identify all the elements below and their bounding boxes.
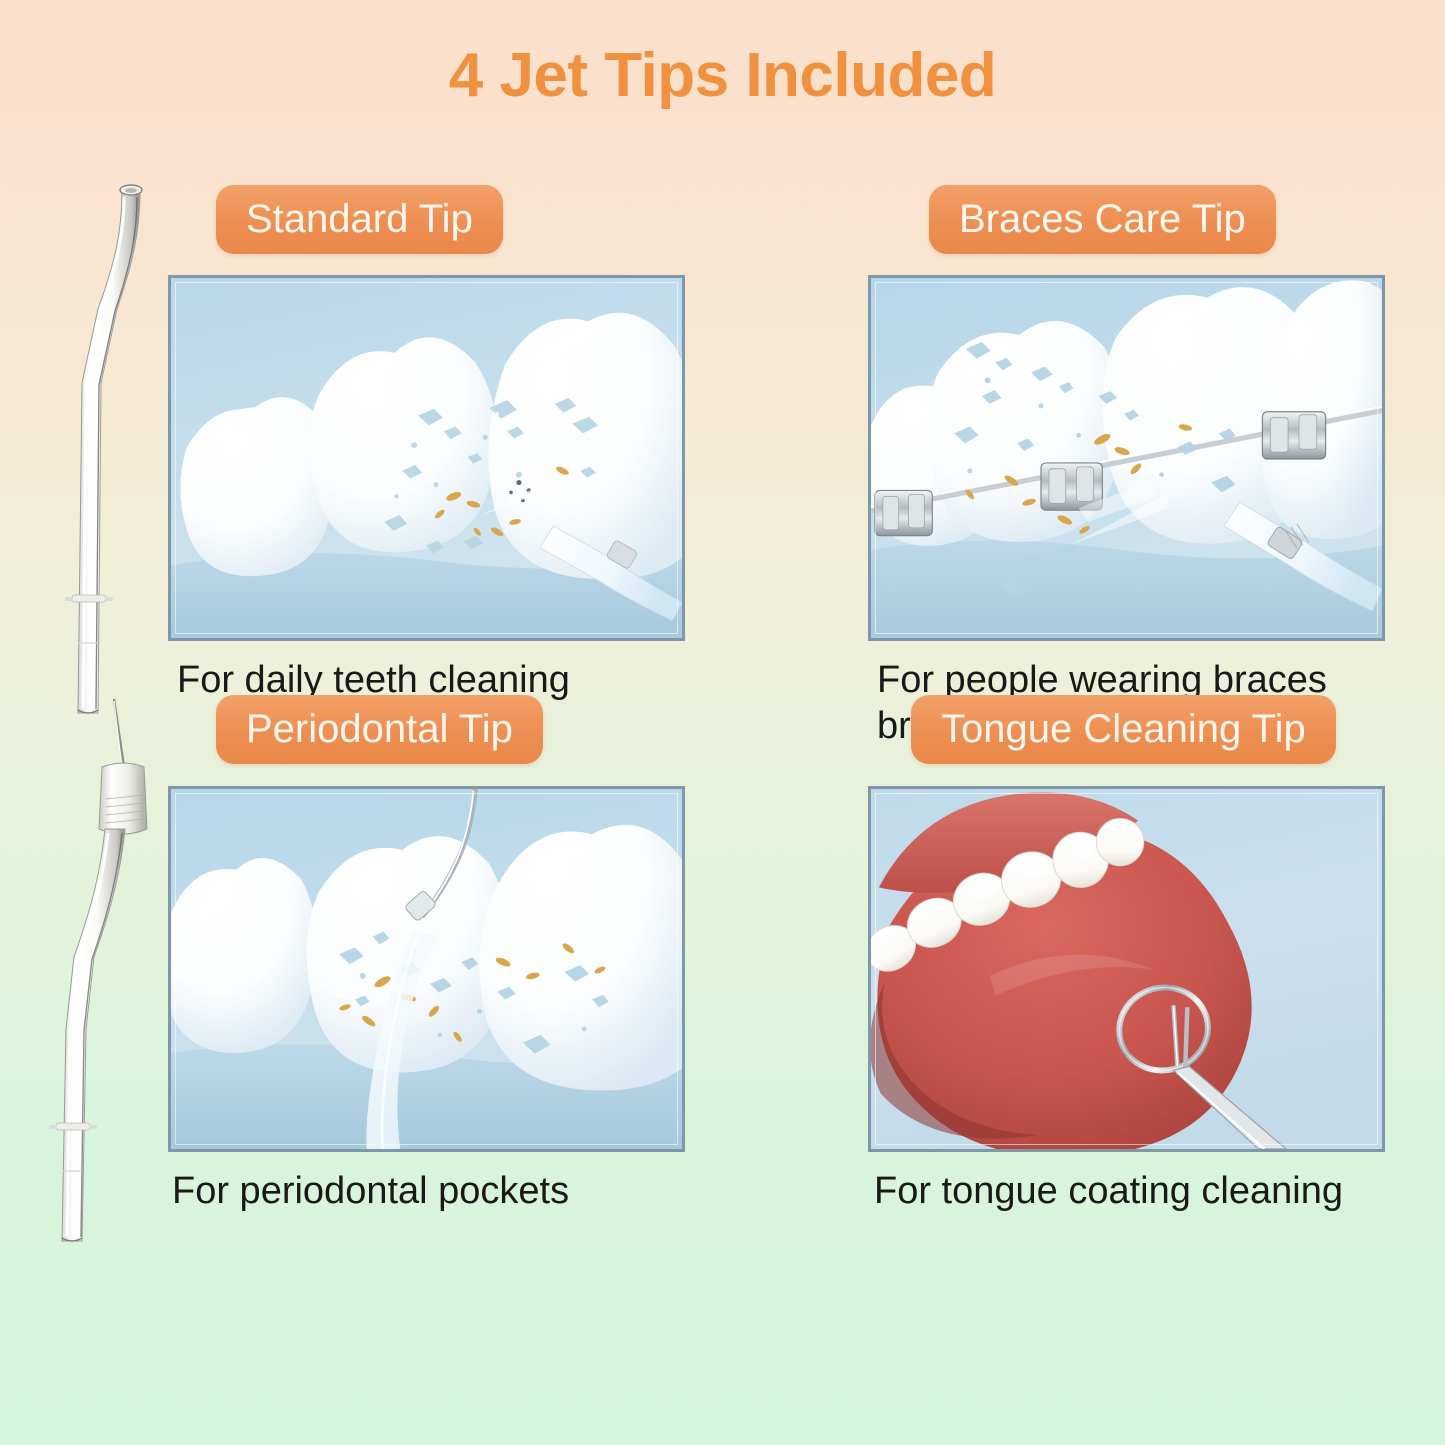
tip-card-standard: Standard Tip [0, 165, 722, 673]
standard-tip-nozzle-icon [48, 173, 168, 733]
tip-card-tongue: Tongue Cleaning Tip [722, 673, 1445, 1181]
page-title: 4 Jet Tips Included [0, 40, 1445, 111]
tips-grid: Standard Tip [0, 165, 1445, 1445]
caption-tongue-cleaning-tip: For tongue coating cleaning [874, 1168, 1343, 1214]
tip-card-braces: Braces Care Tip [722, 165, 1445, 673]
badge-tongue-cleaning-tip[interactable]: Tongue Cleaning Tip [911, 695, 1336, 764]
tongue-cleaning-scene-icon [868, 786, 1385, 1152]
periodontal-tip-nozzle-icon [48, 681, 178, 1261]
braces-cleaning-scene-icon [868, 275, 1385, 641]
badge-periodontal-tip[interactable]: Periodontal Tip [216, 695, 543, 764]
periodontal-cleaning-scene-icon [168, 786, 685, 1152]
caption-periodontal-tip: For periodontal pockets [172, 1168, 569, 1214]
teeth-cleaning-scene-icon [168, 275, 685, 641]
tip-card-periodontal: Periodontal Tip [0, 673, 722, 1181]
badge-braces-care-tip[interactable]: Braces Care Tip [929, 185, 1276, 254]
badge-standard-tip[interactable]: Standard Tip [216, 185, 503, 254]
